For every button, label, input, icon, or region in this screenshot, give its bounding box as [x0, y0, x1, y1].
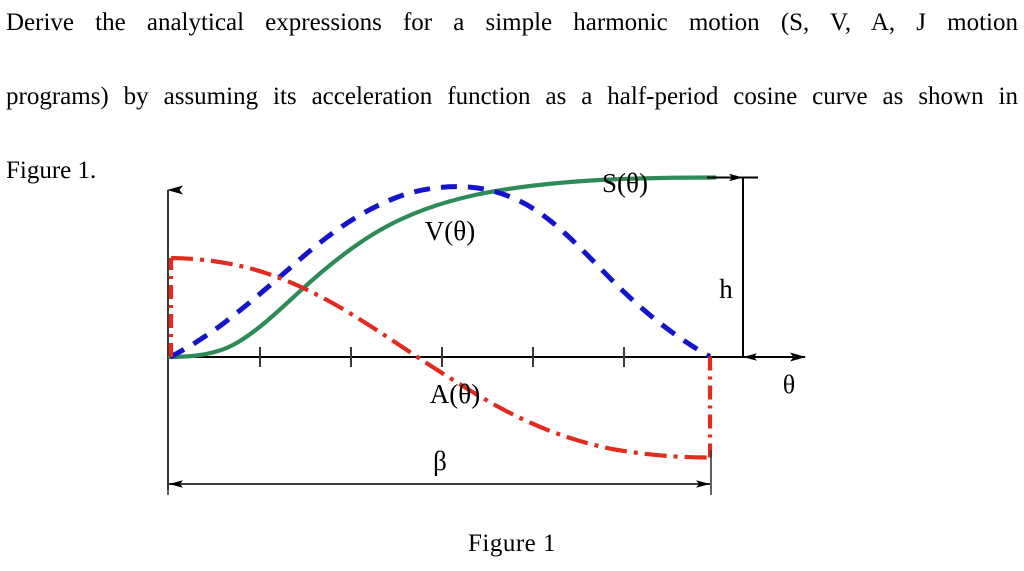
- figure-container: S(θ) V(θ) A(θ) h β θ Figure 1: [0, 150, 1024, 571]
- label-acceleration: A(θ): [430, 379, 480, 409]
- label-velocity: V(θ): [425, 216, 475, 246]
- label-displacement: S(θ): [602, 168, 648, 198]
- problem-line-2: programs) by assuming its acceleration f…: [6, 78, 1018, 152]
- figure-caption: Figure 1: [0, 530, 1024, 558]
- motion-diagram-svg: S(θ) V(θ) A(θ) h β θ: [0, 150, 1024, 530]
- label-x-axis: θ: [783, 370, 795, 399]
- label-stroke-height: h: [719, 274, 733, 304]
- label-cam-angle: β: [433, 446, 447, 476]
- problem-line-1: Derive the analytical expressions for a …: [6, 4, 1018, 78]
